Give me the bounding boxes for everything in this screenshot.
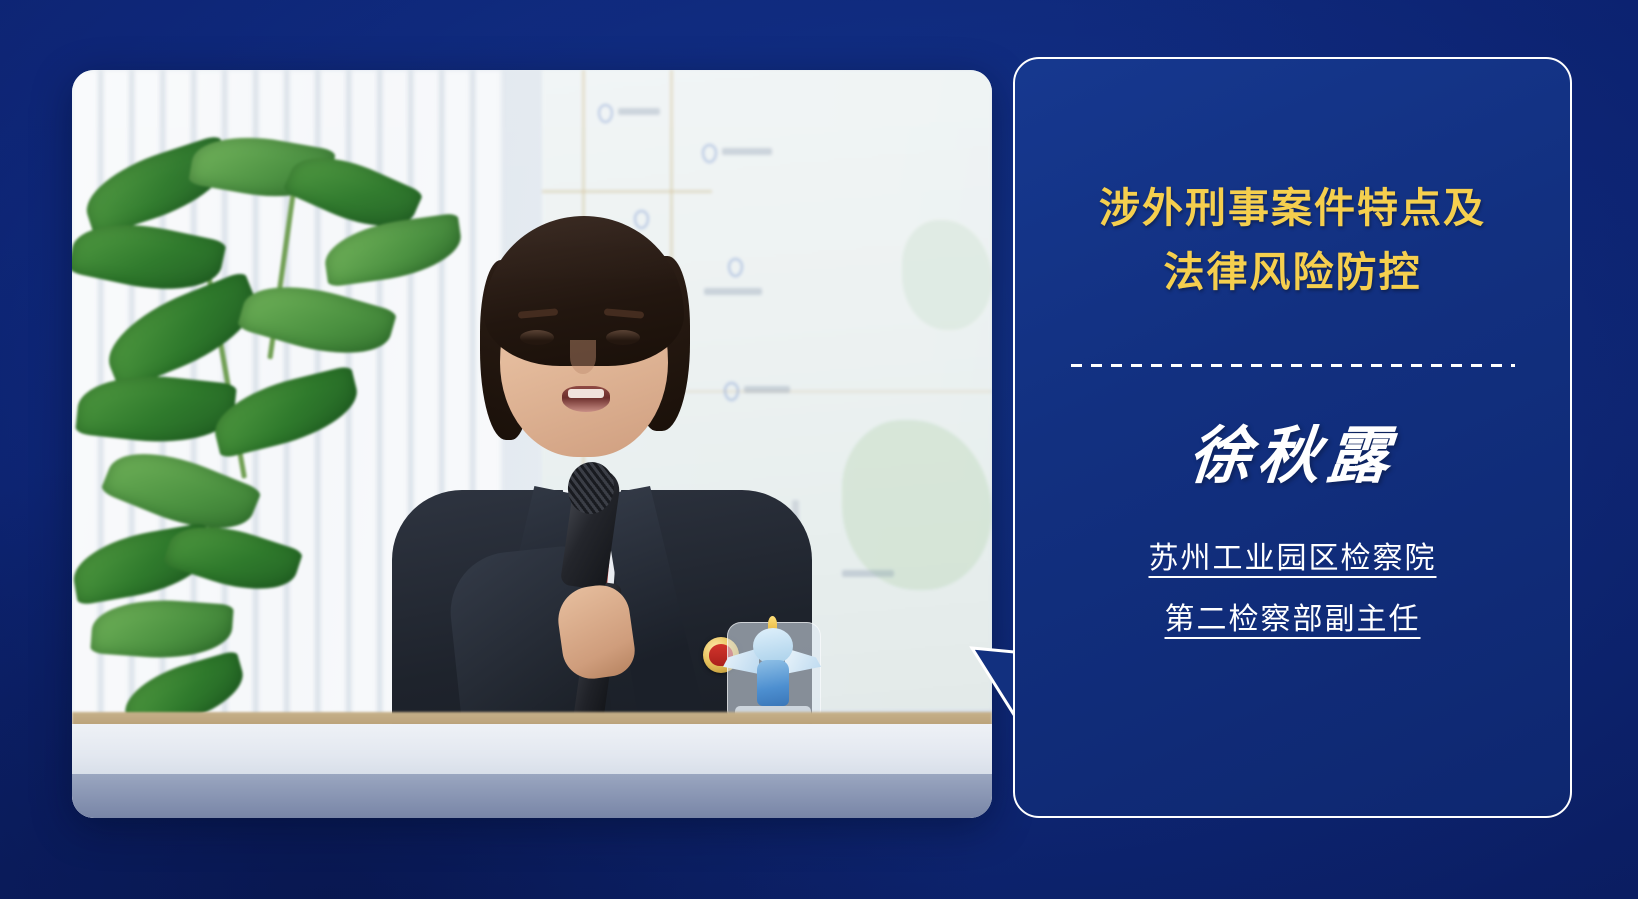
session-title: 涉外刑事案件特点及 法律风险防控 [1099, 177, 1486, 304]
speaker-name: 徐秋露 [1186, 419, 1400, 493]
map-green-area [842, 420, 992, 590]
map-label [618, 108, 660, 115]
plant-leaf [207, 365, 365, 459]
podium-face [72, 724, 992, 776]
speaker-info-card: 涉外刑事案件特点及 法律风险防控 徐秋露 苏州工业园区检察院 第二检察部副主任 [1013, 57, 1572, 818]
plant-leaf [75, 368, 237, 450]
poster-stage: 涉外刑事案件特点及 法律风险防控 徐秋露 苏州工业园区检察院 第二检察部副主任 [0, 0, 1638, 899]
dashed-divider [1071, 364, 1515, 367]
teeth [568, 389, 604, 398]
affiliation-line-2: 第二检察部副主任 [1149, 600, 1437, 641]
podium-body [72, 774, 992, 818]
mascot-body [757, 660, 789, 706]
title-line-2: 法律风险防控 [1099, 241, 1486, 305]
speaker-photo-card [72, 70, 992, 818]
map-pin-icon [702, 144, 717, 163]
speaker-figure [372, 190, 832, 750]
mascot-head [753, 628, 793, 664]
speaker-affiliation: 苏州工业园区检察院 第二检察部副主任 [1149, 539, 1437, 640]
eye [520, 330, 554, 345]
map-pin-icon [598, 104, 613, 123]
eye [606, 330, 640, 345]
affiliation-line-1: 苏州工业园区检察院 [1149, 539, 1437, 580]
info-card-content: 涉外刑事案件特点及 法律风险防控 徐秋露 苏州工业园区检察院 第二检察部副主任 [1015, 59, 1570, 816]
map-label [722, 148, 772, 155]
plant-leaf [95, 270, 268, 391]
map-label [842, 570, 894, 577]
map-green-area [902, 220, 992, 330]
nose [570, 340, 596, 374]
plant-leaf [90, 595, 234, 663]
title-line-1: 涉外刑事案件特点及 [1099, 177, 1486, 241]
